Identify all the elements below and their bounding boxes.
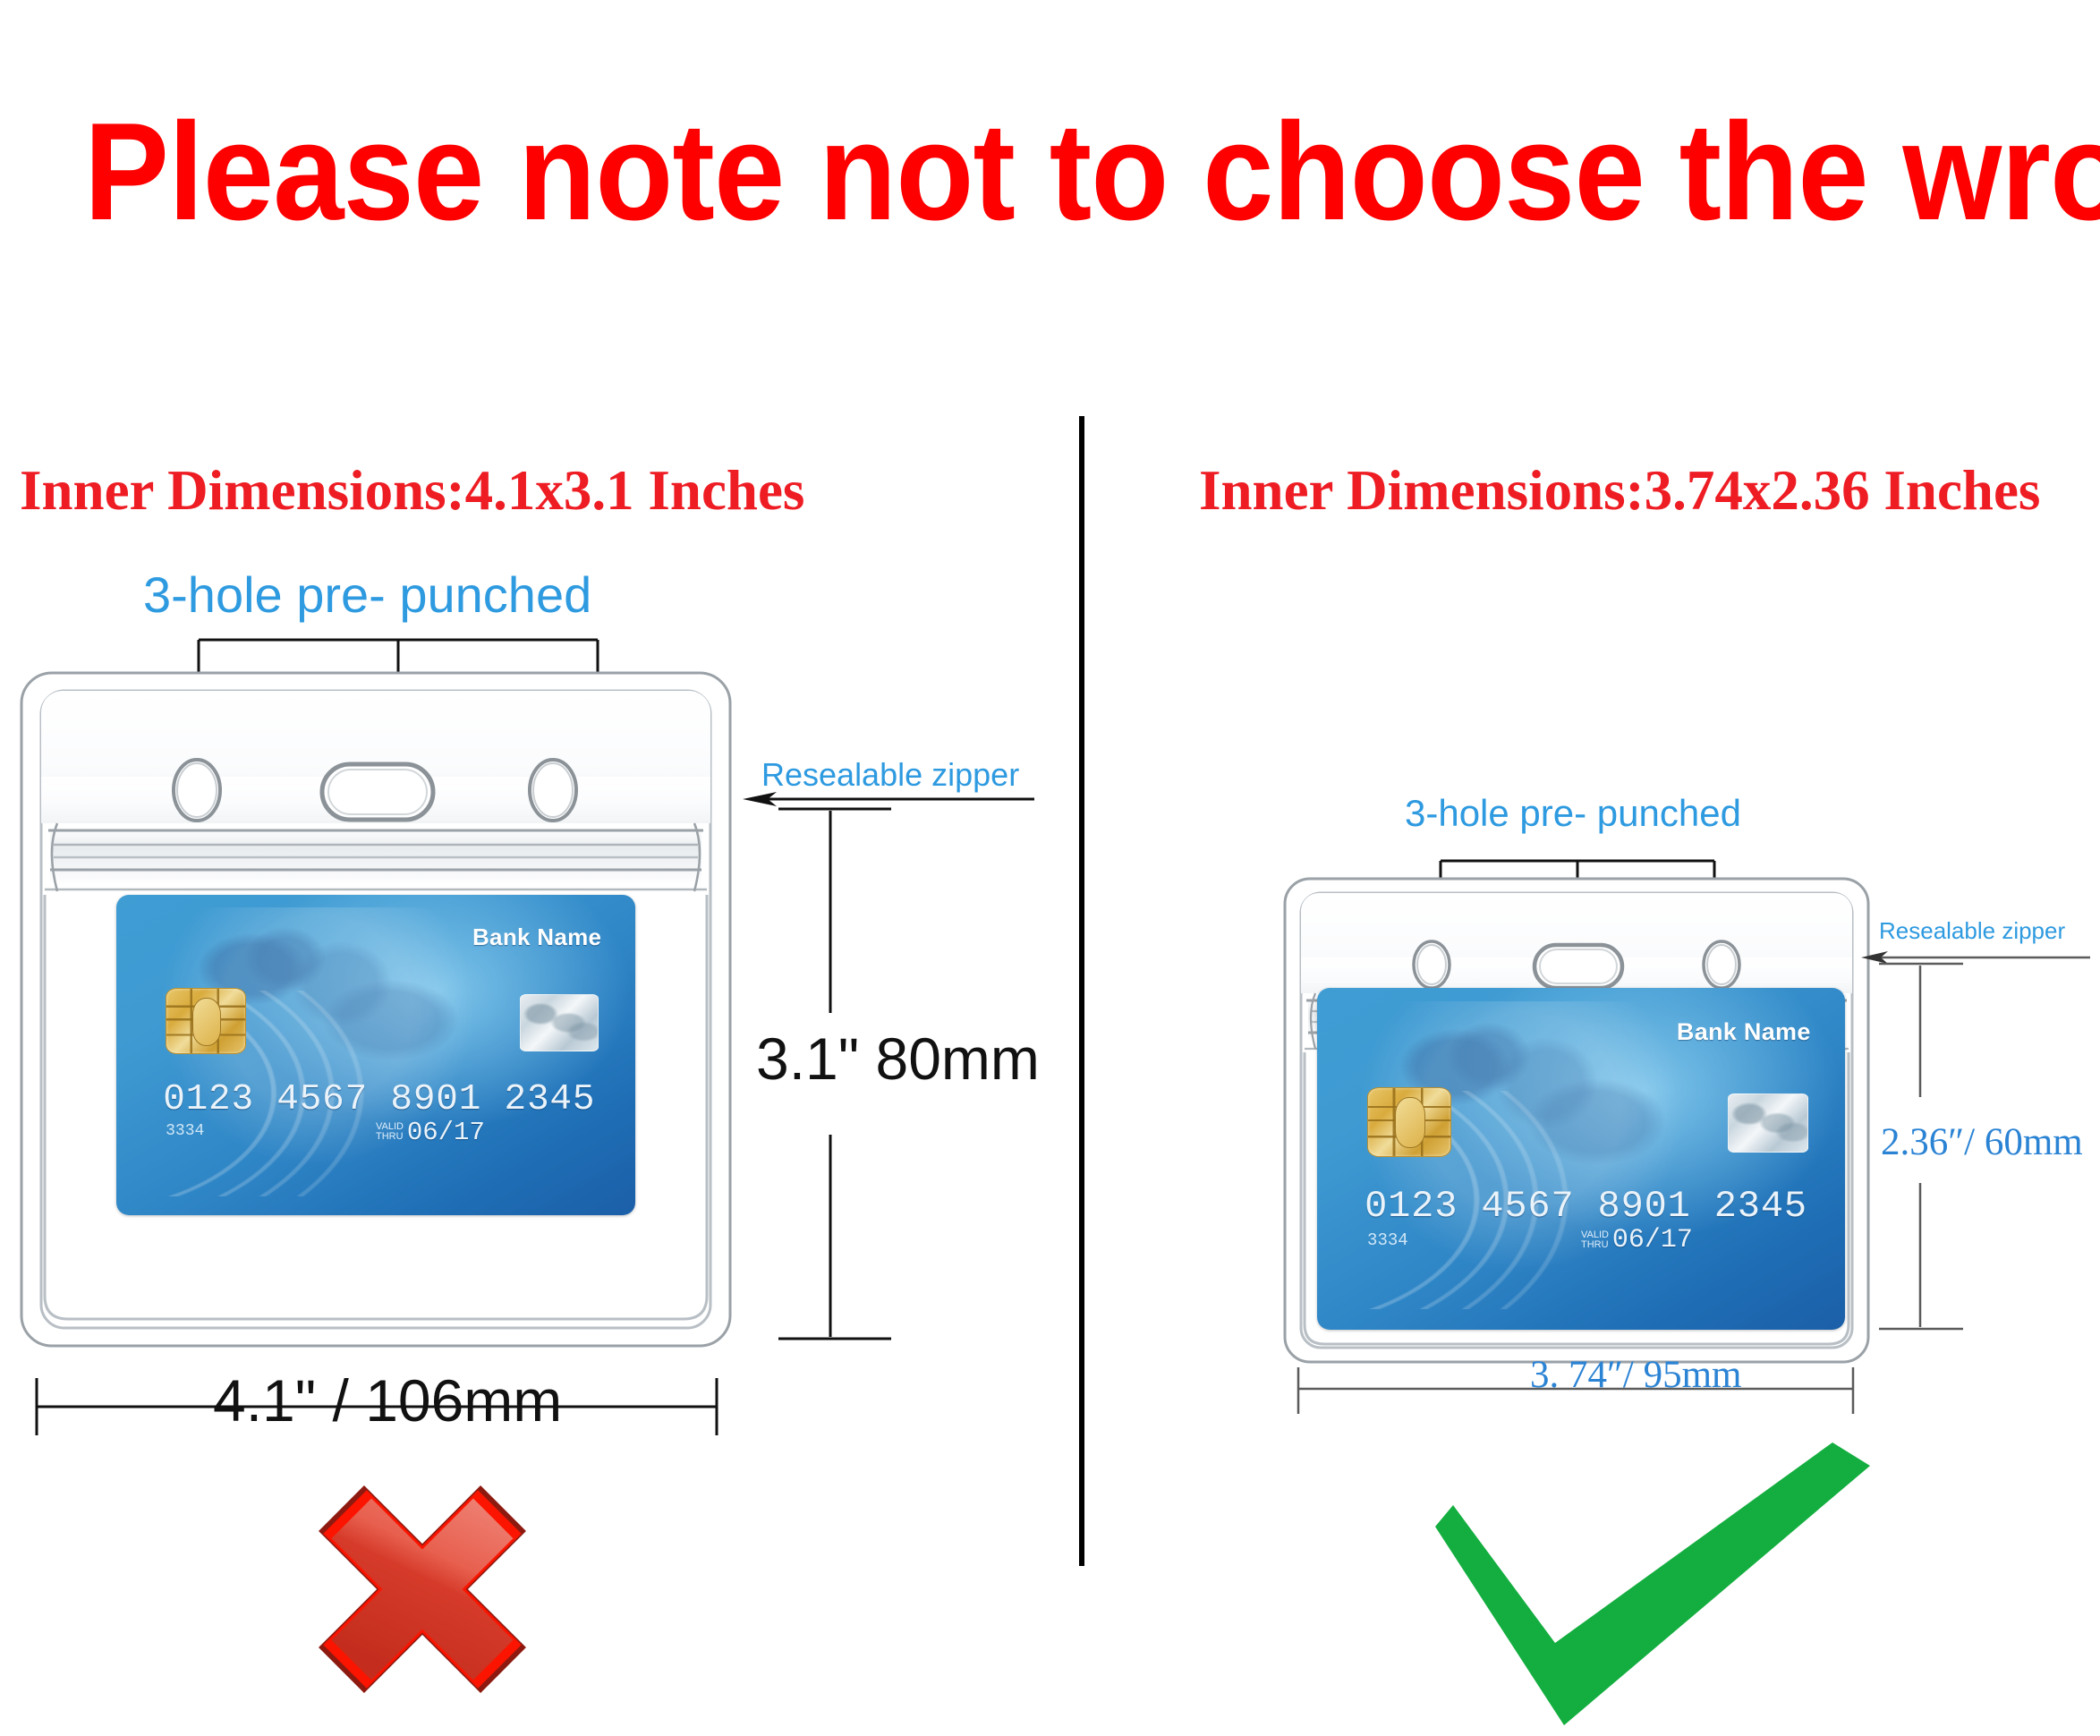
cross-mark-svg — [211, 1455, 633, 1723]
card-valid-line2: THRU — [1581, 1240, 1609, 1250]
card-number: 0123 4567 8901 2345 — [1365, 1185, 1807, 1228]
right-zipper-label: Resealable zipper — [1879, 917, 2065, 945]
card-valid-thru: VALID THRU 06/17 — [1581, 1225, 1693, 1255]
check-mark-icon — [1428, 1441, 1875, 1732]
left-section-header: Inner Dimensions:4.1x3.1 Inches — [20, 458, 804, 523]
page-title: Please note not to choose the wrong size… — [84, 100, 2016, 243]
left-height-dimension-label: 3.1" 80mm — [756, 1025, 1040, 1093]
right-width-dimension-label: 3. 74″/ 95mm — [1530, 1353, 1742, 1397]
check-mark-svg — [1428, 1441, 1875, 1732]
right-height-dimension-label: 2.36″/ 60mm — [1881, 1120, 2083, 1164]
left-sample-card: Bank Name 0123 4567 8901 2345 3334 VALID… — [116, 895, 635, 1215]
card-chip-icon — [1367, 1087, 1451, 1157]
card-bank-name: Bank Name — [472, 923, 601, 951]
right-sample-card: Bank Name 0123 4567 8901 2345 3334 VALID… — [1317, 988, 1845, 1330]
card-number: 0123 4567 8901 2345 — [163, 1079, 595, 1120]
card-valid-date: 06/17 — [1612, 1225, 1693, 1255]
right-hole-label: 3-hole pre- punched — [1405, 792, 1741, 835]
left-zipper — [45, 823, 707, 891]
card-small-number: 3334 — [166, 1122, 204, 1140]
card-bank-name: Bank Name — [1677, 1018, 1811, 1046]
card-chip-icon — [166, 988, 246, 1054]
cross-mark-icon — [211, 1455, 633, 1723]
card-hologram-icon — [520, 994, 599, 1051]
card-small-number: 3334 — [1367, 1230, 1408, 1250]
left-hole-label: 3-hole pre- punched — [143, 566, 591, 624]
card-valid-thru: VALID THRU 06/17 — [376, 1118, 485, 1147]
card-valid-date: 06/17 — [407, 1118, 485, 1147]
center-divider — [1079, 416, 1084, 1566]
card-hologram-icon — [1728, 1094, 1808, 1153]
left-width-dimension-label: 4.1" / 106mm — [213, 1366, 562, 1434]
card-valid-line2: THRU — [376, 1132, 404, 1142]
right-section-header: Inner Dimensions:3.74x2.36 Inches — [1199, 458, 2040, 523]
